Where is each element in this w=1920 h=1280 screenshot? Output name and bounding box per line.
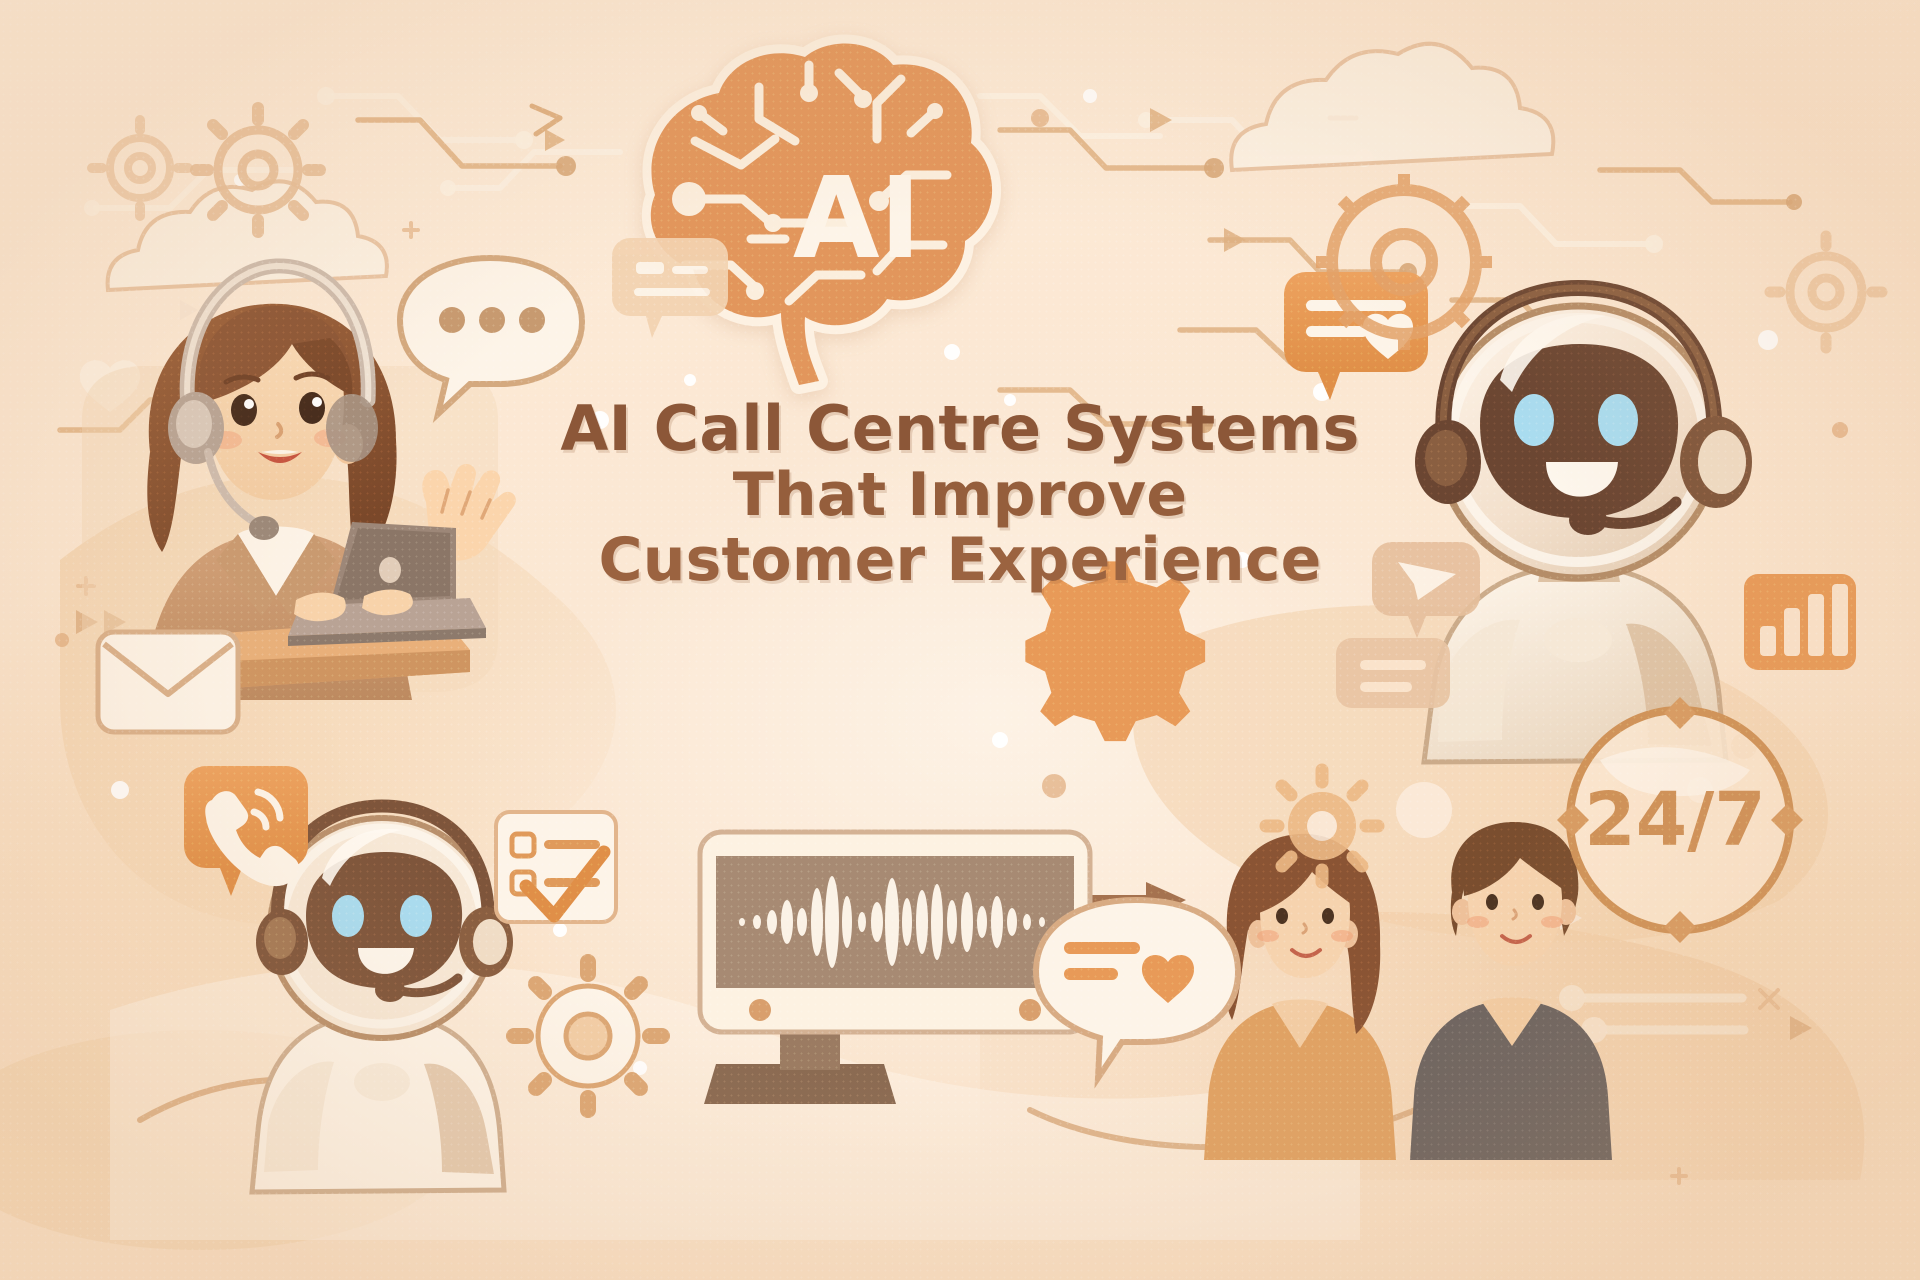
message-card-icon: [1336, 638, 1450, 708]
speech-bubble-dots-icon: [400, 258, 582, 414]
gear-icon-topright: [1770, 236, 1882, 348]
bar-chart-icon: [1744, 574, 1856, 670]
gear-icon-topleft: [92, 120, 188, 216]
envelope-icon: [98, 632, 238, 732]
chat-bubble-lines-icon: [612, 238, 728, 338]
gear-icon-bottom: [514, 962, 662, 1110]
icon-badges-layer: 24/7: [0, 0, 1920, 1280]
headline-line-3: Customer Experience: [530, 529, 1390, 593]
hero-illustration: AI: [0, 0, 1920, 1280]
checklist-icon: [496, 812, 616, 922]
phone-call-icon: [184, 766, 308, 896]
gear-icon-small: [1266, 770, 1378, 882]
chat-bubble-heart-small-icon: [1036, 900, 1238, 1078]
headline-line-2: That Improve: [530, 464, 1390, 528]
status-badge-label: 24/7: [1584, 777, 1766, 863]
headline-line-1: AI Call Centre Systems: [530, 396, 1390, 462]
status-badge-247: 24/7: [1557, 697, 1803, 943]
page-title: AI Call Centre Systems That Improve Cust…: [530, 396, 1390, 593]
gear-icon-topleft-2: [196, 108, 320, 232]
